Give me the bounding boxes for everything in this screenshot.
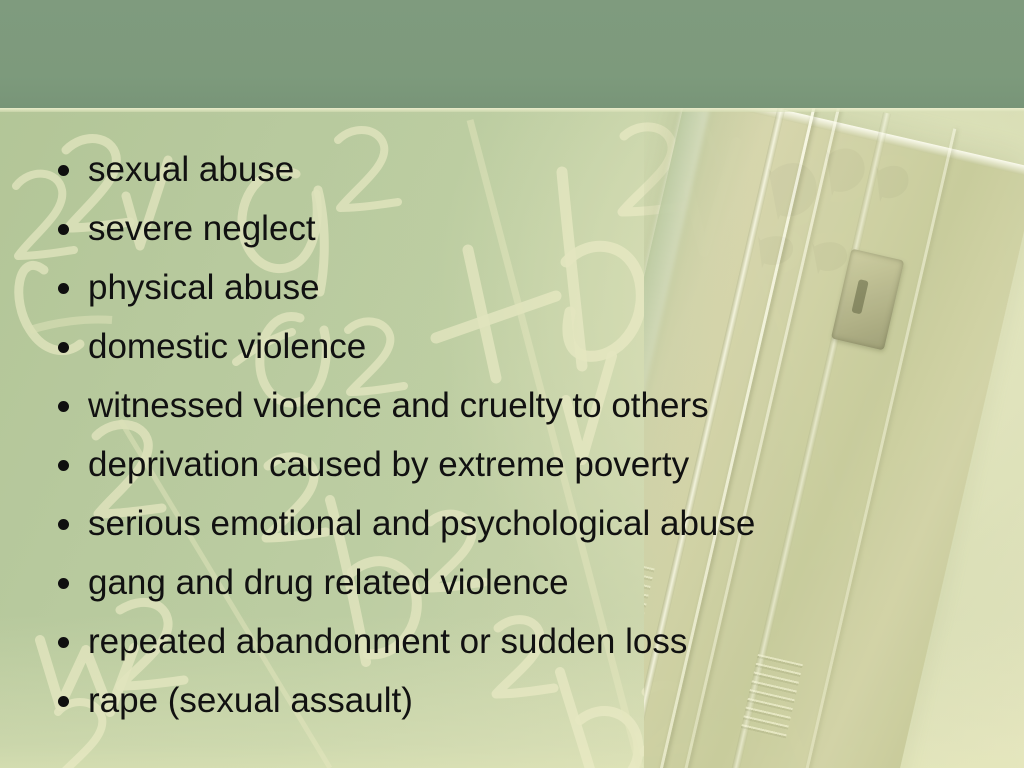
bullet-text: repeated abandonment or sudden loss [88, 622, 687, 661]
bullet-item: gang and drug related violence [0, 553, 960, 612]
bullet-marker-icon [58, 224, 69, 235]
bullet-text: serious emotional and psychological abus… [88, 504, 755, 543]
bullet-marker-icon [58, 637, 69, 648]
bullet-item: domestic violence [0, 317, 960, 376]
bullet-item: sexual abuse [0, 140, 960, 199]
bullet-item: deprivation caused by extreme poverty [0, 435, 960, 494]
bullet-marker-icon [58, 283, 69, 294]
bullet-text: physical abuse [88, 268, 320, 307]
bullet-marker-icon [58, 460, 69, 471]
bullet-marker-icon [58, 519, 69, 530]
bullet-marker-icon [58, 342, 69, 353]
bullet-text: gang and drug related violence [88, 563, 569, 602]
bullet-list: sexual abuse severe neglect physical abu… [0, 140, 960, 730]
bullet-text: domestic violence [88, 327, 366, 366]
bullet-marker-icon [58, 165, 69, 176]
bullet-item: rape (sexual assault) [0, 671, 960, 730]
bullet-item: physical abuse [0, 258, 960, 317]
title-divider [0, 108, 1024, 112]
bullet-item: witnessed violence and cruelty to others [0, 376, 960, 435]
bullet-text: witnessed violence and cruelty to others [88, 386, 709, 425]
bullet-item: serious emotional and psychological abus… [0, 494, 960, 553]
bullet-text: severe neglect [88, 209, 316, 248]
bullet-marker-icon [58, 696, 69, 707]
bullet-marker-icon [58, 401, 69, 412]
bullet-text: deprivation caused by extreme poverty [88, 445, 689, 484]
bullet-text: rape (sexual assault) [88, 681, 413, 720]
bullet-text: sexual abuse [88, 150, 294, 189]
bullet-item: severe neglect [0, 199, 960, 258]
bullet-marker-icon [58, 578, 69, 589]
title-band [0, 0, 1024, 108]
bullet-item: repeated abandonment or sudden loss [0, 612, 960, 671]
slide: What kinds of events are traumatic? sexu… [0, 0, 1024, 768]
